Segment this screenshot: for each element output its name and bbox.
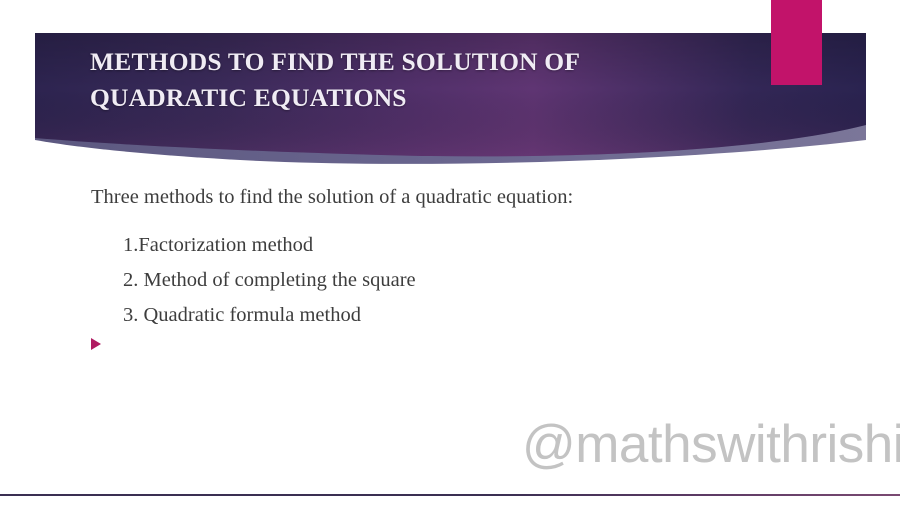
banner-shape bbox=[0, 0, 900, 175]
methods-list: 1.Factorization method 2. Method of comp… bbox=[123, 228, 416, 333]
banner-shade-overlay bbox=[35, 33, 866, 156]
play-triangle-icon bbox=[91, 338, 101, 350]
banner-underlayer bbox=[35, 33, 866, 164]
list-item: 3. Quadratic formula method bbox=[123, 298, 416, 333]
accent-block bbox=[771, 0, 822, 85]
list-item: 2. Method of completing the square bbox=[123, 263, 416, 298]
presentation-slide: METHODS TO FIND THE SOLUTION OF QUADRATI… bbox=[0, 0, 900, 507]
watermark: @mathswithrishi bbox=[522, 415, 900, 475]
title-banner: METHODS TO FIND THE SOLUTION OF QUADRATI… bbox=[0, 0, 900, 175]
intro-text: Three methods to find the solution of a … bbox=[91, 184, 573, 210]
empty-bullet-row bbox=[91, 333, 109, 355]
banner-main bbox=[35, 33, 866, 156]
slide-title: METHODS TO FIND THE SOLUTION OF QUADRATI… bbox=[90, 44, 750, 116]
bottom-divider bbox=[0, 494, 900, 496]
list-item: 1.Factorization method bbox=[123, 228, 416, 263]
